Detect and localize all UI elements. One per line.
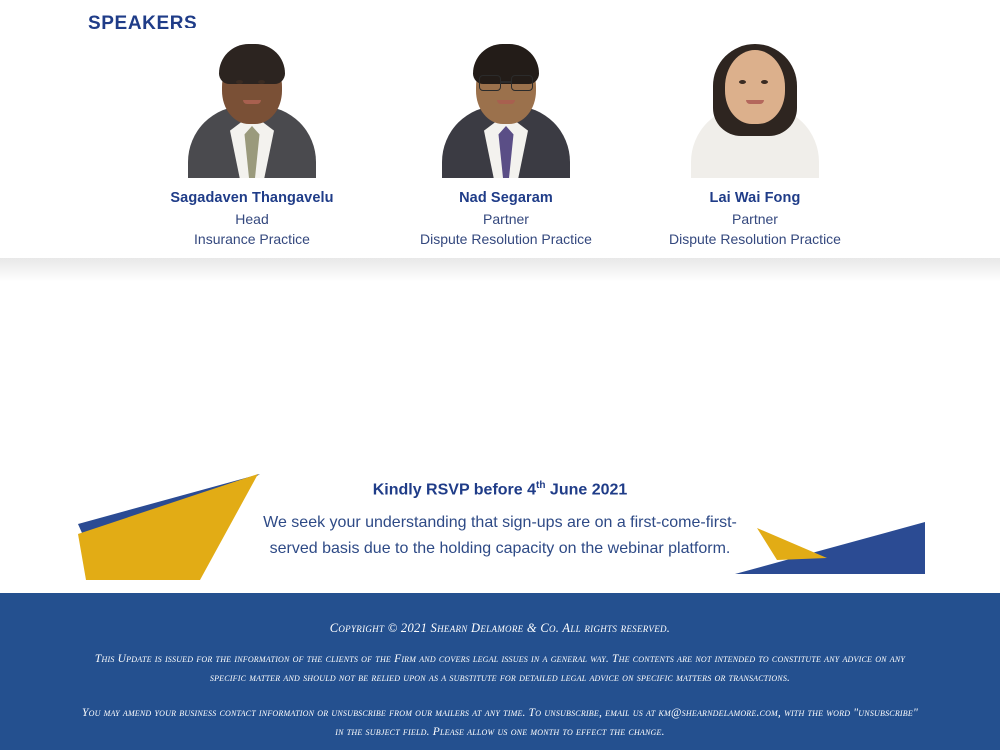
rsvp-title-suffix: June 2021 — [545, 481, 627, 498]
speaker-photo-nad-segaram — [431, 28, 581, 178]
speaker-card: Nad Segaram Partner Dispute Resolution P… — [386, 28, 626, 250]
speaker-practice: Dispute Resolution Practice — [386, 230, 626, 250]
rsvp-title-prefix: Kindly RSVP before 4 — [373, 481, 536, 498]
speaker-practice: Dispute Resolution Practice — [635, 230, 875, 250]
speaker-title: Partner — [386, 210, 626, 230]
speaker-photo-sagadaven-thangavelu — [177, 28, 327, 178]
speakers-section: SPEAKERS Sagadaven Thangavelu Head Insur — [0, 0, 1000, 262]
speaker-name: Sagadaven Thangavelu — [132, 190, 372, 206]
footer-disclaimer: This Update is issued for the informatio… — [0, 650, 1000, 688]
chevron-arrow-decoration — [735, 498, 925, 580]
rsvp-deadline: Kindly RSVP before 4th June 2021 — [0, 480, 1000, 499]
footer-unsubscribe-notice: You may amend your business contact info… — [0, 704, 1000, 742]
speaker-name: Lai Wai Fong — [635, 190, 875, 206]
eyeglasses-icon — [479, 75, 533, 89]
section-divider — [0, 258, 1000, 282]
speaker-name: Nad Segaram — [386, 190, 626, 206]
footer: Copyright © 2021 Shearn Delamore & Co. A… — [0, 593, 1000, 750]
speaker-title: Head — [132, 210, 372, 230]
speaker-card: Sagadaven Thangavelu Head Insurance Prac… — [132, 28, 372, 250]
event-details-strip: 30 JUNE 3 PM Please register here or by … — [0, 282, 1000, 430]
email-newsletter-page: SPEAKERS Sagadaven Thangavelu Head Insur — [0, 0, 1000, 750]
speaker-title: Partner — [635, 210, 875, 230]
speaker-practice: Insurance Practice — [132, 230, 372, 250]
rsvp-section: Kindly RSVP before 4th June 2021 We seek… — [0, 430, 1000, 593]
speaker-photo-lai-wai-fong — [680, 28, 830, 178]
speaker-card: Lai Wai Fong Partner Dispute Resolution … — [635, 28, 875, 250]
footer-copyright: Copyright © 2021 Shearn Delamore & Co. A… — [0, 593, 1000, 636]
rsvp-body-text: We seek your understanding that sign-ups… — [250, 510, 750, 562]
